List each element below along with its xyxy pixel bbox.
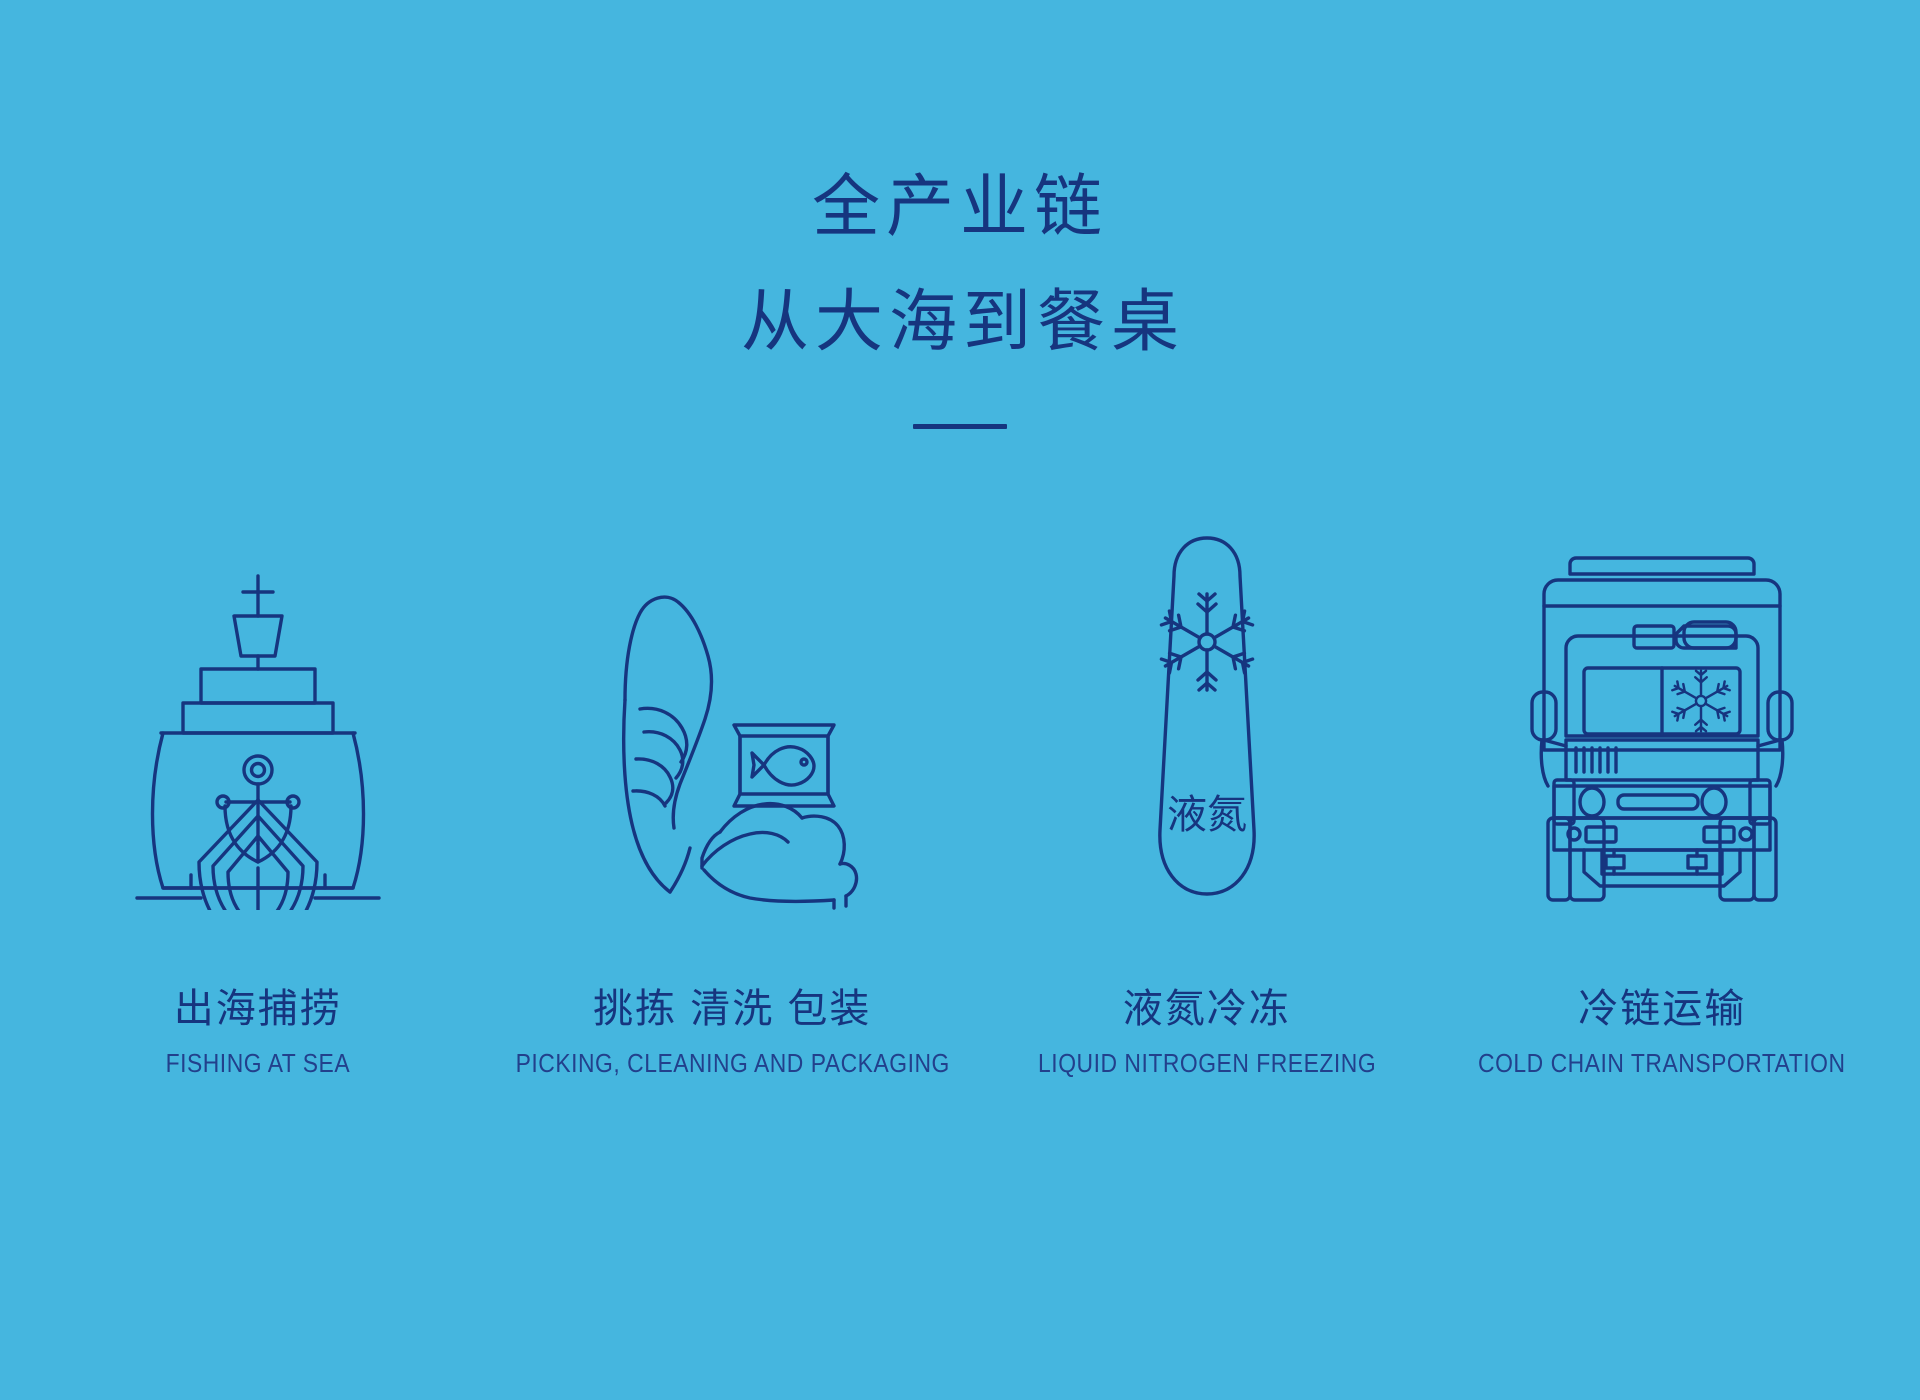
step-label-en: PICKING, CLEANING AND PACKAGING	[515, 1046, 949, 1080]
step-label-en: COLD CHAIN TRANSPORTATION	[1479, 1046, 1846, 1080]
step-label-en: LIQUID NITROGEN FREEZING	[1038, 1046, 1376, 1080]
step-label-cn: 出海捕捞	[153, 982, 363, 1036]
step-label-cn: 液氮冷冻	[1015, 982, 1399, 1036]
infographic-page: 全产业链 从大海到餐桌	[0, 0, 1920, 1400]
page-heading: 全产业链 从大海到餐桌	[0, 150, 1920, 429]
step-labels: 挑拣 清洗 包装 PICKING, CLEANING AND PACKAGING	[486, 982, 979, 1080]
step-icon-wrapper: 液氮	[1132, 530, 1282, 910]
step-icon-wrapper	[1522, 530, 1802, 910]
divider-rule	[913, 424, 1007, 429]
heading-divider	[0, 424, 1920, 429]
step-fishing-at-sea[interactable]: 出海捕捞 FISHING AT SEA	[30, 530, 486, 1080]
step-label-en: FISHING AT SEA	[165, 1046, 350, 1080]
step-labels: 冷链运输 COLD CHAIN TRANSPORTATION	[1453, 982, 1871, 1080]
hands-holding-packaged-fish-icon	[582, 580, 882, 910]
step-label-cn: 冷链运输	[1453, 982, 1871, 1036]
step-icon-wrapper	[133, 530, 383, 910]
step-labels: 液氮冷冻 LIQUID NITROGEN FREEZING	[1015, 982, 1399, 1080]
snowflake-icon	[1161, 594, 1253, 690]
step-cold-chain-transportation[interactable]: 冷链运输 COLD CHAIN TRANSPORTATION	[1434, 530, 1890, 1080]
heading-line-2: 从大海到餐桌	[0, 265, 1920, 380]
fishing-boat-with-anchor-icon	[133, 570, 383, 910]
step-liquid-nitrogen-freezing[interactable]: 液氮 液氮冷冻 LIQUID NITROGEN FREEZING	[979, 530, 1435, 1080]
step-picking-cleaning-packaging[interactable]: 挑拣 清洗 包装 PICKING, CLEANING AND PACKAGING	[486, 530, 979, 1080]
liquid-nitrogen-tank-icon: 液氮	[1132, 530, 1282, 910]
step-labels: 出海捕捞 FISHING AT SEA	[153, 982, 363, 1080]
process-steps: 出海捕捞 FISHING AT SEA	[0, 530, 1920, 1160]
snowflake-icon	[1672, 671, 1730, 731]
refrigerated-truck-icon	[1522, 550, 1802, 910]
step-icon-wrapper	[582, 530, 882, 910]
step-label-cn: 挑拣 清洗 包装	[486, 982, 979, 1036]
tank-label-text: 液氮	[1167, 793, 1247, 837]
heading-line-1: 全产业链	[0, 150, 1920, 265]
